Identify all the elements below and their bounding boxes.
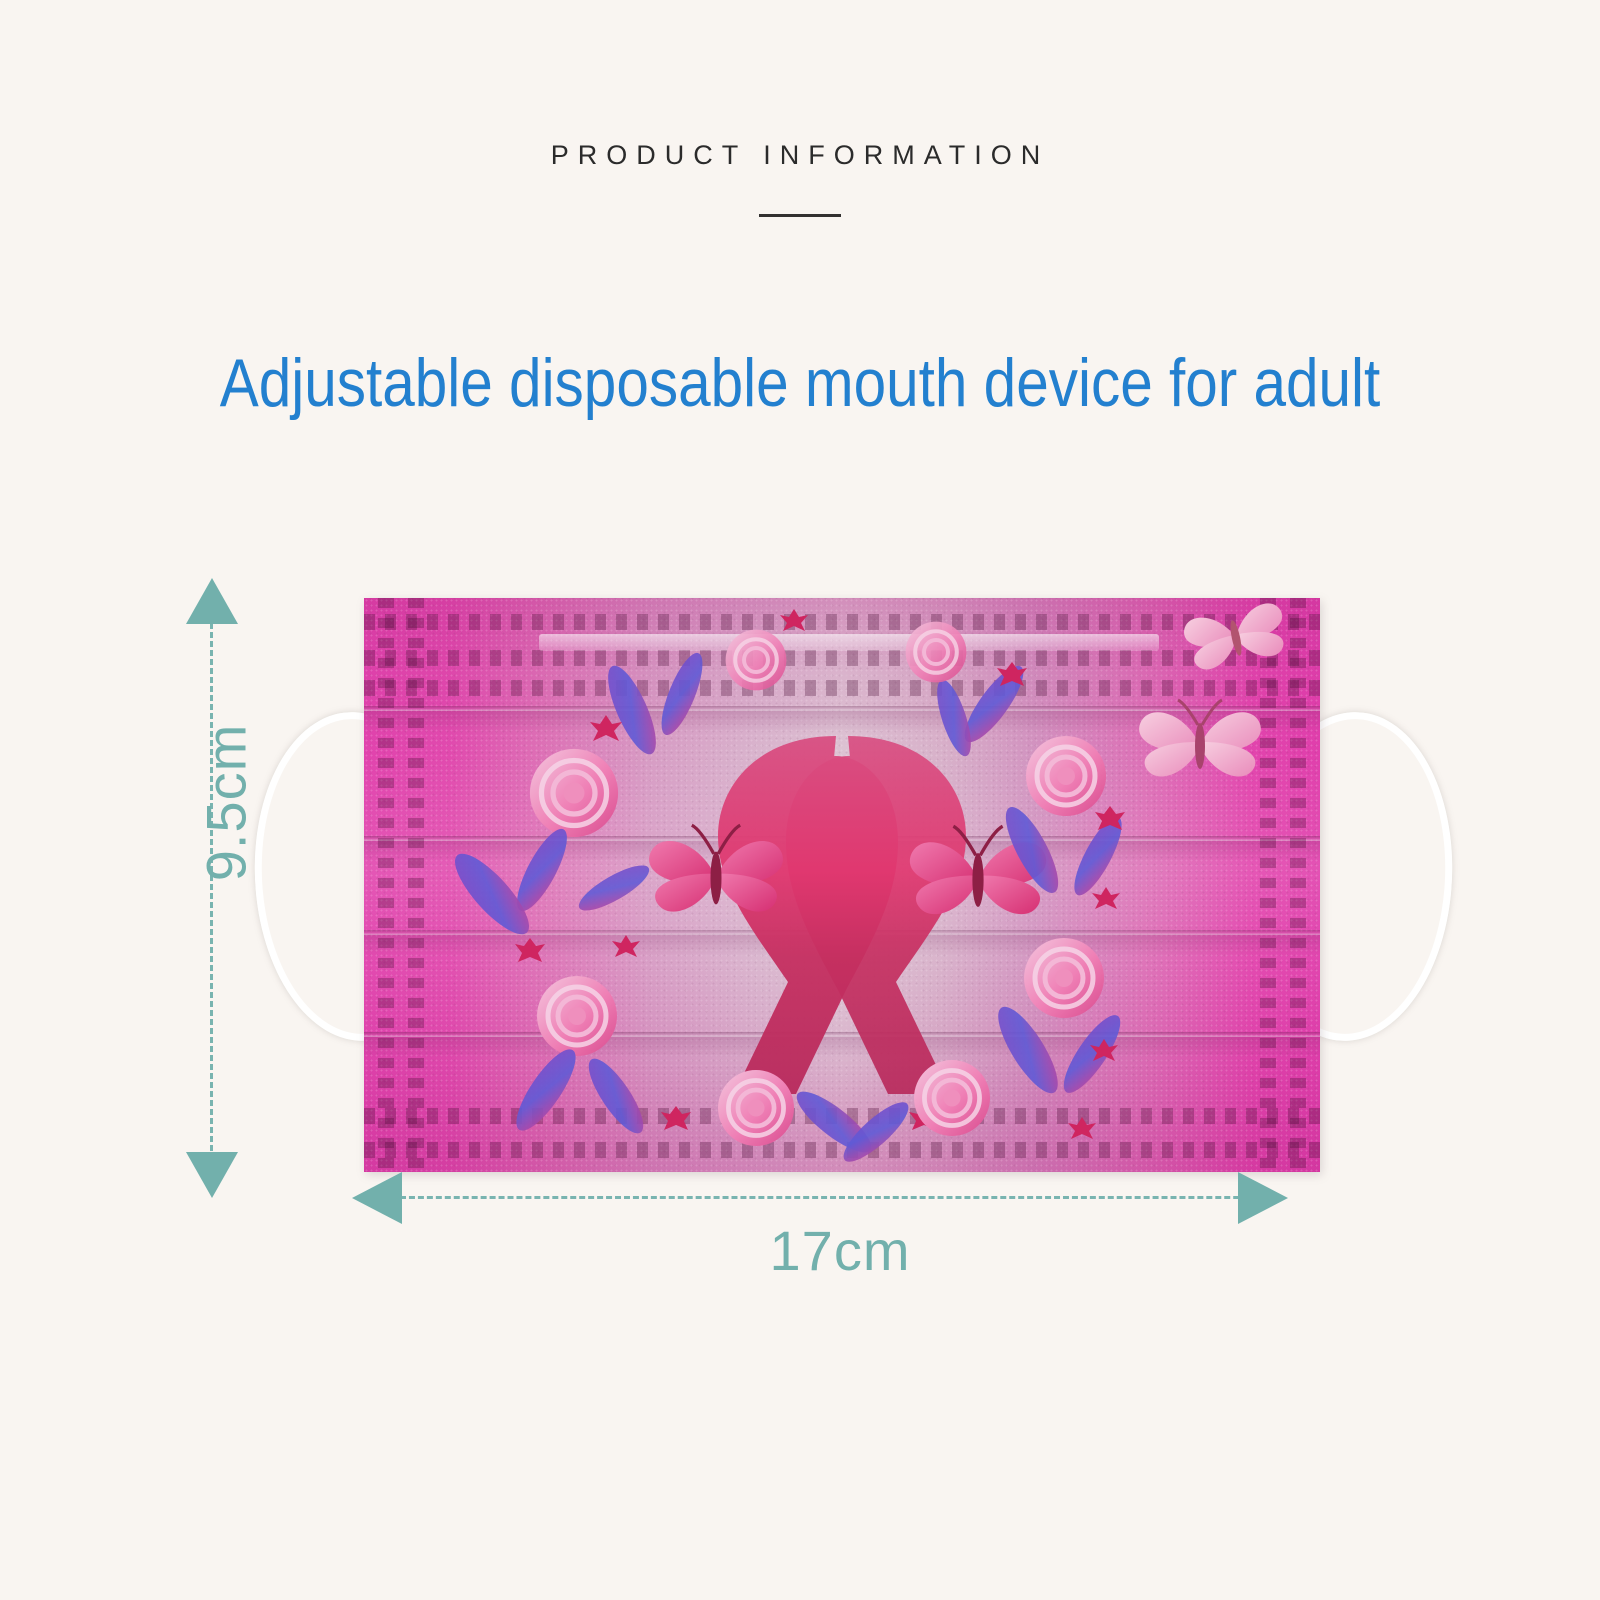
small-flower [612,935,640,957]
dimension-arrow-down [186,1152,238,1198]
leaf-sprig [580,1052,652,1141]
dimension-arrow-left [352,1172,402,1224]
rose-flower [530,749,618,837]
rose-flower [718,1070,794,1146]
leaf-sprig [573,858,654,919]
small-flower [515,938,545,962]
rose-flower [537,976,617,1056]
small-flower [1092,887,1120,909]
butterfly-icon [1139,700,1261,777]
small-flower [590,715,622,741]
face-mask-body [364,598,1320,1172]
leaf-sprig [653,648,710,739]
leaf-sprig [1055,1008,1130,1100]
mask-print-artwork [364,598,1320,1172]
rose-flower [1024,938,1104,1018]
rose-flower [914,1060,990,1136]
small-flower [780,609,808,631]
leaf-sprig [507,1042,586,1138]
butterfly-icon [1181,601,1290,673]
leaf-sprig [599,660,665,760]
leaf-sprig [1066,811,1130,901]
dimension-label-height: 9.5cm [194,673,259,933]
rose-flower [906,622,967,683]
product-image: 9.5cm 17cm [0,0,1600,1600]
small-flower [1068,1117,1096,1139]
dimension-arrow-right [1238,1172,1288,1224]
dimension-arrow-up [186,578,238,624]
rose-flower [726,630,787,691]
dimension-line-horizontal [400,1196,1284,1199]
dimension-label-width: 17cm [640,1218,1040,1283]
rose-flower [1026,736,1106,816]
small-flower [661,1106,691,1130]
